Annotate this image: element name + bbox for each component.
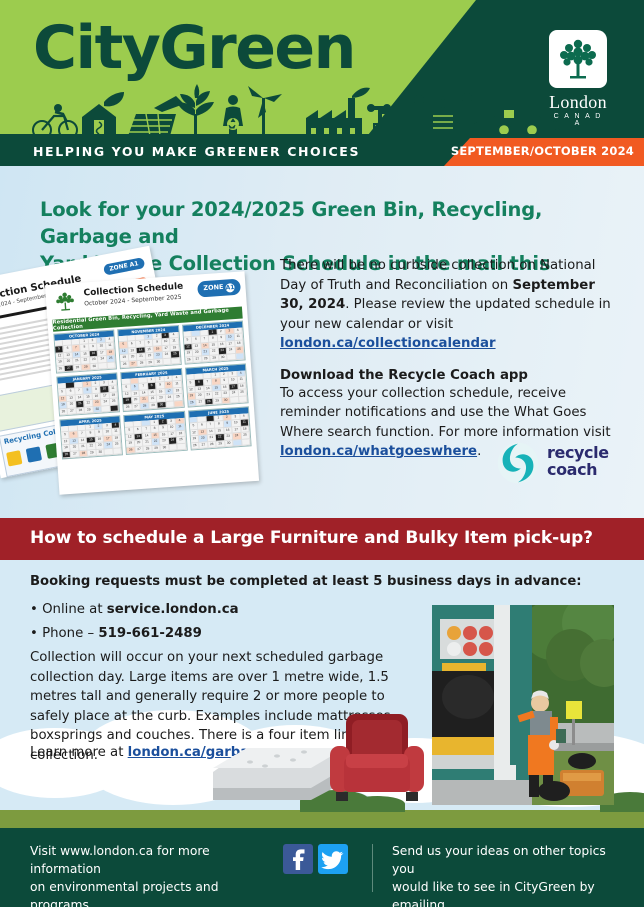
calendar-mini-days: 1234567891011121314151617181920212223242…	[61, 422, 122, 458]
recycle-coach-text: To access your collection schedule, rece…	[280, 386, 611, 440]
calendar-back-zone: ZONE A1	[103, 257, 146, 276]
calendar-mini-month: MARCH 2025123456789101112131415161718192…	[185, 363, 249, 407]
footer-vertical-divider	[372, 844, 373, 892]
calendar-mini-month: JANUARY 20251234567891011121314151617181…	[56, 372, 120, 416]
wind-turbine-icon	[248, 86, 282, 136]
issue-date-text: SEPTEMBER/OCTOBER 2024	[451, 144, 634, 158]
twitter-icon[interactable]	[318, 844, 348, 874]
calendar-mini-month: FEBRUARY 2025123456789101112131415161718…	[120, 368, 184, 412]
calendar-london-tree-icon	[51, 287, 79, 315]
collection-calendar-link[interactable]: london.ca/collectioncalendar	[280, 336, 496, 351]
calendar-mini-days: 1234567891011121314151617181920212223242…	[119, 332, 180, 368]
calendar-mini-month: NOVEMBER 2024123456789101112131415161718…	[117, 325, 181, 369]
tree-logo-icon	[549, 30, 607, 88]
footer-left-line1: Visit www.london.ca for more information	[30, 844, 210, 876]
bullet-prefix: • Phone –	[30, 626, 98, 641]
calendar-mini-month: APRIL 2025123456789101112131415161718192…	[59, 415, 123, 459]
booking-lead-text: Booking requests must be completed at le…	[30, 574, 582, 589]
bullet-value: 519-661-2489	[98, 626, 202, 641]
calendar-mini-days: 1234567891011121314151617181920212223242…	[122, 375, 183, 411]
calendar-mini-days: 1234567891011121314151617181920212223242…	[189, 413, 250, 449]
headline-line-1: Look for your 2024/2025 Green Bin, Recyc…	[40, 198, 542, 248]
learn-more-prefix: Learn more at	[30, 745, 128, 760]
booking-bullet-list: • Online at service.london.ca• Phone – 5…	[30, 598, 239, 646]
water-tap-icon	[367, 104, 398, 136]
eco-icons-silhouette-strip	[0, 84, 644, 140]
calendar-months-grid: OCTOBER 20241234567891011121314151617181…	[48, 320, 256, 460]
recycle-coach-word-2: coach	[547, 460, 597, 479]
factory-icon	[306, 88, 370, 136]
page-footer: Visit www.london.ca for more information…	[0, 828, 644, 907]
house-icon	[82, 92, 124, 136]
calendar-zone-pill: ZONEA1	[197, 279, 241, 298]
footer-right-text: Send us your ideas on other topics you w…	[392, 842, 632, 907]
brand-title: CityGreen	[33, 18, 355, 78]
recycle-coach-swirl-icon	[495, 440, 541, 486]
calendar-mini-days: 1234567891011121314151617181920212223242…	[186, 370, 247, 406]
london-logo-text: London	[549, 92, 607, 113]
calendar-mini-days: 1234567891011121314151617181920212223242…	[125, 418, 186, 454]
footer-right-line2: would like to see in CityGreen by emaili…	[392, 880, 595, 907]
booking-bullet-item: • Online at service.london.ca	[30, 598, 239, 622]
community-garden-icon	[410, 93, 478, 136]
calendar-sheet-front: Collection Schedule October 2024 - Septe…	[45, 271, 259, 494]
whatgoeswhere-link[interactable]: london.ca/whatgoeswhere	[280, 444, 477, 459]
footer-left-line2: on environmental projects and programs.	[30, 880, 219, 907]
solar-panel-icon	[128, 96, 184, 136]
calendar-zone-value: A1	[225, 283, 235, 293]
recycle-coach-logo: recycle coach	[495, 440, 625, 488]
red-armchair-illustration	[322, 710, 432, 810]
bullet-value: service.london.ca	[107, 602, 239, 617]
recycle-coach-period: .	[477, 444, 481, 459]
recycle-coach-wordmark: recycle coach	[547, 444, 609, 478]
footer-right-line1: Send us your ideas on other topics you	[392, 844, 606, 876]
bulky-item-banner-title: How to schedule a Large Furniture and Bu…	[30, 528, 593, 548]
facebook-icon[interactable]	[283, 844, 313, 874]
recycle-coach-heading: Download the Recycle Coach app	[280, 368, 620, 383]
bullet-prefix: • Online at	[30, 602, 107, 617]
calendar-mini-month: DECEMBER 2024123456789101112131415161718…	[182, 321, 246, 365]
london-logo-subtext: C A N A D A	[549, 113, 607, 127]
schedule-section: Look for your 2024/2025 Green Bin, Recyc…	[0, 166, 644, 518]
booking-bullet-item: • Phone – 519-661-2489	[30, 622, 239, 646]
london-logo-mark	[549, 30, 607, 88]
photo-content	[432, 605, 614, 805]
calendar-collage: Collection Schedule October 2024 - Septe…	[0, 254, 254, 484]
footer-left-text: Visit www.london.ca for more information…	[30, 842, 280, 907]
tree-icon	[177, 84, 214, 136]
collection-worker-photo	[432, 605, 614, 805]
pedestrian-recycling-icon	[223, 95, 243, 136]
calendar-zone-label: ZONE	[203, 283, 224, 292]
calendar-mini-month: JUNE 20251234567891011121314151617181920…	[188, 406, 252, 450]
tagline-text: HELPING YOU MAKE GREENER CHOICES	[33, 144, 360, 159]
no-collection-paragraph: There will be no curbside collection on …	[280, 256, 620, 354]
bulky-item-banner: How to schedule a Large Furniture and Bu…	[0, 518, 644, 560]
calendar-mini-month: OCTOBER 20241234567891011121314151617181…	[53, 329, 117, 373]
calendar-mini-month: MAY 202512345678910111213141516171819202…	[123, 411, 187, 455]
calendar-mini-days: 1234567891011121314151617181920212223242…	[58, 379, 119, 415]
calendar-mini-days: 1234567891011121314151617181920212223242…	[55, 337, 116, 373]
page-header: CityGreen	[0, 0, 644, 140]
calendar-mini-days: 1234567891011121314151617181920212223242…	[183, 328, 244, 364]
bulky-item-section: Booking requests must be completed at le…	[0, 560, 644, 828]
grass-strip	[0, 810, 644, 828]
newsletter-page: CityGreen	[0, 0, 644, 907]
